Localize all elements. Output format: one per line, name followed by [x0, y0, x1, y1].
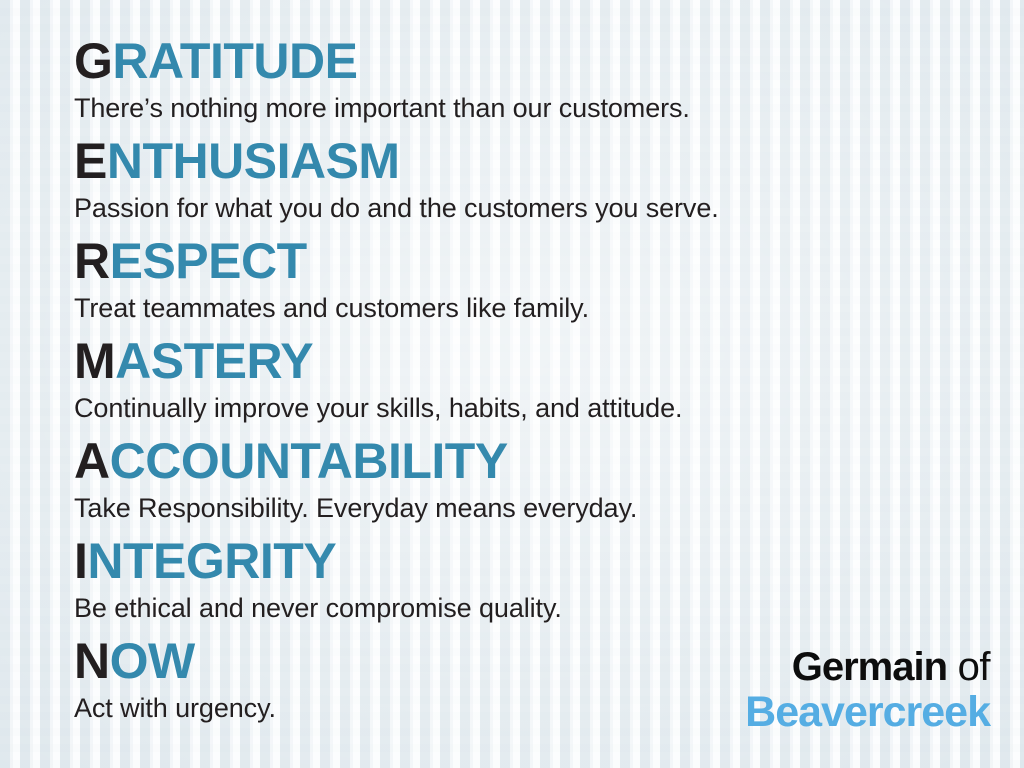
value-description-integrity: Be ethical and never compromise quality.	[74, 586, 562, 623]
value-initial-letter: I	[74, 533, 87, 589]
value-block-accountability: ACCOUNTABILITY Take Responsibility. Ever…	[74, 436, 637, 523]
value-heading-rest: ASTERY	[115, 333, 313, 389]
value-initial-letter: M	[74, 333, 115, 389]
dealership-logo: Germain of Beavercreek	[745, 645, 990, 735]
value-heading-mastery: MASTERY	[74, 336, 682, 386]
value-heading-rest: NTHUSIASM	[107, 133, 400, 189]
value-block-now: NOW Act with urgency.	[74, 636, 276, 723]
value-block-integrity: INTEGRITY Be ethical and never compromis…	[74, 536, 562, 623]
value-description-accountability: Take Responsibility. Everyday means ever…	[74, 486, 637, 523]
value-heading-integrity: INTEGRITY	[74, 536, 562, 586]
value-initial-letter: E	[74, 133, 107, 189]
poster-content: GRATITUDE There’s nothing more important…	[0, 0, 1024, 768]
value-heading-rest: CCOUNTABILITY	[110, 433, 508, 489]
value-heading-rest: OW	[110, 633, 195, 689]
value-block-mastery: MASTERY Continually improve your skills,…	[74, 336, 682, 423]
value-block-gratitude: GRATITUDE There’s nothing more important…	[74, 36, 690, 123]
value-block-enthusiasm: ENTHUSIASM Passion for what you do and t…	[74, 136, 719, 223]
value-initial-letter: A	[74, 433, 110, 489]
value-initial-letter: N	[74, 633, 110, 689]
value-description-mastery: Continually improve your skills, habits,…	[74, 386, 682, 423]
value-initial-letter: R	[74, 233, 110, 289]
value-heading-rest: ESPECT	[110, 233, 307, 289]
value-heading-enthusiasm: ENTHUSIASM	[74, 136, 719, 186]
value-heading-rest: RATITUDE	[112, 33, 357, 89]
value-heading-accountability: ACCOUNTABILITY	[74, 436, 637, 486]
value-initial-letter: G	[74, 33, 112, 89]
logo-connector: of	[947, 645, 990, 689]
value-block-respect: RESPECT Treat teammates and customers li…	[74, 236, 589, 323]
logo-brand-name: Germain	[792, 645, 947, 689]
value-heading-now: NOW	[74, 636, 276, 686]
value-heading-rest: NTEGRITY	[87, 533, 336, 589]
values-poster: GRATITUDE There’s nothing more important…	[0, 0, 1024, 768]
value-heading-gratitude: GRATITUDE	[74, 36, 690, 86]
value-description-now: Act with urgency.	[74, 686, 276, 723]
value-heading-respect: RESPECT	[74, 236, 589, 286]
logo-location: Beavercreek	[745, 689, 990, 735]
value-description-enthusiasm: Passion for what you do and the customer…	[74, 186, 719, 223]
value-description-gratitude: There’s nothing more important than our …	[74, 86, 690, 123]
value-description-respect: Treat teammates and customers like famil…	[74, 286, 589, 323]
logo-line-germain-of: Germain of	[745, 645, 990, 689]
